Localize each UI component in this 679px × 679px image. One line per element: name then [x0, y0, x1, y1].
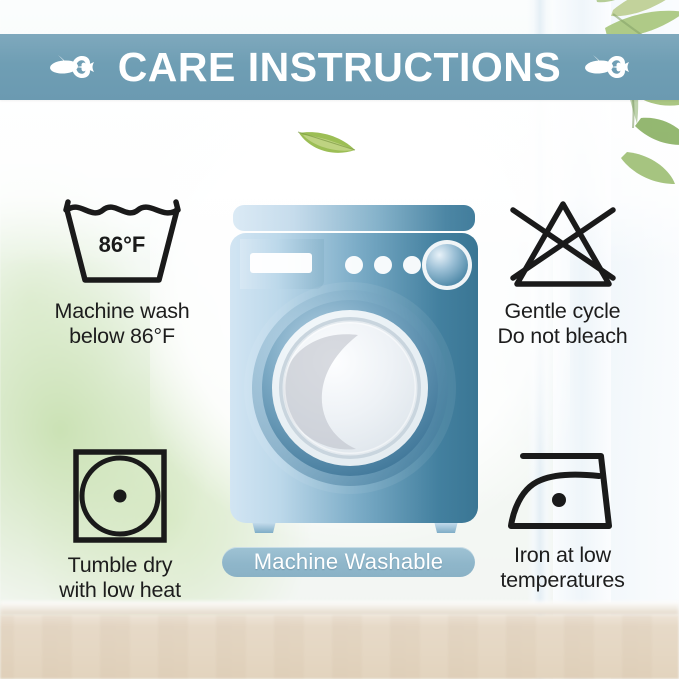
wash-temperature-value: 86°F [99, 232, 146, 257]
fleur-de-lis-icon [44, 46, 100, 88]
care-symbol-caption: Machine wash below 86°F [54, 299, 189, 349]
plant-foliage [509, 0, 679, 201]
indicator-light [403, 256, 421, 274]
indicator-light [374, 256, 392, 274]
care-symbol-caption: Gentle cycle Do not bleach [497, 299, 627, 349]
care-symbol-no-bleach: Gentle cycle Do not bleach [455, 196, 670, 349]
triangle-crossed-out-icon [505, 196, 621, 292]
wash-tub-icon: 86°F [58, 196, 186, 292]
care-symbol-machine-wash: 86°F Machine wash below 86°F [22, 196, 222, 349]
control-knob [426, 244, 468, 286]
care-symbol-tumble-dry: Tumble dry with low heat [20, 446, 220, 603]
badge-label: Machine Washable [254, 551, 443, 573]
floating-leaf-icon [297, 124, 359, 158]
care-symbol-caption: Iron at low temperatures [500, 543, 624, 593]
machine-washable-badge: Machine Washable [222, 547, 475, 577]
indicator-light [345, 256, 363, 274]
care-symbol-caption: Tumble dry with low heat [59, 553, 181, 603]
table-edge [0, 601, 679, 615]
care-symbol-iron: Iron at low temperatures [455, 446, 670, 593]
fleur-de-lis-icon [579, 46, 635, 88]
iron-icon [501, 446, 625, 536]
drawer-slot [250, 253, 312, 273]
page-title: CARE INSTRUCTIONS [118, 47, 562, 88]
wooden-table-surface [0, 615, 679, 679]
machine-top-panel [233, 205, 475, 231]
header-banner: CARE INSTRUCTIONS [0, 34, 679, 100]
tumble-dry-square-icon [70, 446, 170, 546]
care-instructions-graphic: CARE INSTRUCTIONS 86°F Machine wash belo… [0, 0, 679, 679]
washing-machine-illustration [228, 203, 480, 538]
